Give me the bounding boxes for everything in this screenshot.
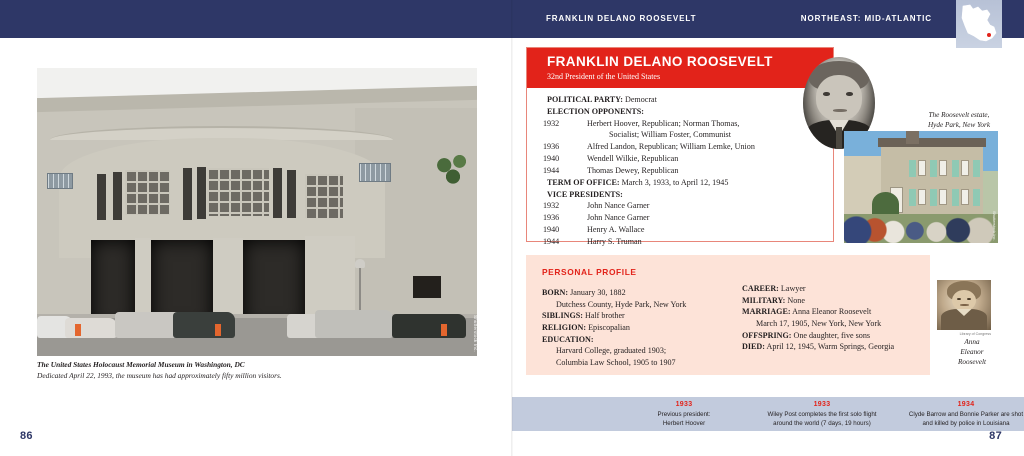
term-of-office-row: TERM OF OFFICE: March 3, 1933, to April …: [547, 177, 825, 189]
estate-window: [939, 189, 947, 205]
estate-shutter: [930, 160, 937, 177]
died-label: DIED:: [742, 342, 765, 351]
opponent-names: Wendell Wilkie, Republican: [587, 154, 678, 163]
eleanor-caption-line-2: Eleanor: [937, 347, 1007, 357]
estate-shutter: [930, 189, 937, 206]
vice-president-row: 1936John Nance Garner: [547, 212, 825, 224]
vice-president-row: 1932John Nance Garner: [547, 200, 825, 212]
opponent-row: 1936Alfred Landon, Republican; William L…: [547, 141, 825, 153]
portrait-mouth: [833, 109, 847, 112]
born-sub: Dutchess County, Hyde Park, New York: [542, 299, 742, 311]
born-row: BORN: January 30, 1882: [542, 287, 742, 299]
vp-name: Henry A. Wallace: [587, 225, 644, 234]
vice-president-row: 1944Harry S. Truman: [547, 236, 825, 248]
left-bottom-band: [0, 452, 512, 456]
portrait-eye: [823, 92, 829, 96]
estate-shrub: [872, 192, 900, 217]
timeline-text-line-2: around the world (7 days, 19 hours): [748, 419, 896, 428]
opponent-year: 1936: [565, 141, 587, 153]
religion-row: RELIGION: Episcopalian: [542, 322, 742, 334]
eleanor-eye: [957, 298, 961, 300]
window-slot: [197, 167, 206, 219]
marriage-row: MARRIAGE: Anna Eleanor Roosevelt: [742, 306, 928, 318]
political-party-value: Democrat: [625, 95, 657, 104]
caption-line-1: The United States Holocaust Memorial Mus…: [37, 360, 477, 371]
marriage-sub: March 17, 1905, New York, New York: [742, 318, 928, 330]
siblings-row: SIBLINGS: Half brother: [542, 310, 742, 322]
left-photo-caption: The United States Holocaust Memorial Mus…: [37, 360, 477, 381]
education-label: EDUCATION:: [542, 335, 594, 344]
eleanor-eye: [967, 298, 971, 300]
window-slot: [273, 168, 282, 218]
opponent-year: 1940: [565, 153, 587, 165]
career-row: CAREER: Lawyer: [742, 283, 928, 295]
estate-shutter: [973, 160, 980, 177]
eleanor-face: [952, 290, 976, 311]
fact-card-body: POLITICAL PARTY: Democrat ELECTION OPPON…: [547, 94, 825, 248]
estate-window: [918, 189, 926, 205]
personal-profile-left-column: BORN: January 30, 1882 Dutchess County, …: [542, 287, 742, 368]
window-slot: [97, 174, 106, 220]
opponent-names: Thomas Dewey, Republican: [587, 166, 678, 175]
estate-window: [961, 160, 969, 176]
education-row: EDUCATION:: [542, 334, 742, 346]
education-sub-2: Columbia Law School, 1905 to 1907: [542, 357, 742, 369]
anna-eleanor-roosevelt-portrait: [937, 280, 991, 330]
window-slot: [287, 170, 296, 218]
opponent-row: 1932Herbert Hoover, Republican; Norman T…: [547, 118, 825, 130]
opponent-row-cont: Socialist; William Foster, Communist: [547, 129, 825, 141]
lantern-window: [359, 163, 391, 182]
estate-shutter: [952, 189, 959, 206]
estate-shutter: [973, 189, 980, 206]
location-marker-icon: [987, 33, 991, 37]
left-page: Shutterstock Inc. The United States Holo…: [0, 0, 512, 456]
president-name: FRANKLIN DELANO ROOSEVELT: [547, 54, 773, 69]
lantern-window: [47, 173, 73, 189]
timeline-event: 1933 Wiley Post completes the first solo…: [748, 401, 896, 429]
timeline-text: Previous president: Herbert Hoover: [620, 410, 748, 429]
personal-profile-title: PERSONAL PROFILE: [542, 267, 637, 277]
right-bottom-band: [512, 452, 1024, 456]
traffic-cone: [441, 324, 447, 336]
opponent-row: 1944Thomas Dewey, Republican: [547, 165, 825, 177]
timeline-text-line-1: Previous president:: [620, 410, 748, 419]
opponent-names: Alfred Landon, Republican; William Lemke…: [587, 142, 755, 151]
opponent-names: Herbert Hoover, Republican; Norman Thoma…: [587, 119, 739, 128]
parked-car: [392, 314, 466, 338]
right-page-number: 87: [989, 430, 1002, 442]
parked-car: [65, 318, 117, 338]
military-row: MILITARY: None: [742, 295, 928, 307]
estate-window: [961, 189, 969, 205]
timeline-text-line-1: Clyde Barrow and Bonnie Parker are shot: [896, 410, 1024, 419]
timeline-event: 1933 Previous president: Herbert Hoover: [620, 401, 748, 429]
estate-shutter: [909, 160, 916, 177]
born-value: January 30, 1882: [570, 288, 626, 297]
timeline-text: Clyde Barrow and Bonnie Parker are shot …: [896, 410, 1024, 429]
vp-year: 1936: [565, 212, 587, 224]
traffic-cone: [75, 324, 81, 336]
book-spread: Shutterstock Inc. The United States Holo…: [0, 0, 1024, 456]
grid-window: [125, 170, 170, 215]
vp-name: Harry S. Truman: [587, 237, 642, 246]
timeline-text-line-2: Herbert Hoover: [620, 419, 748, 428]
eleanor-caption-line-1: Anna: [937, 337, 1007, 347]
vice-presidents-label: VICE PRESIDENTS:: [547, 189, 825, 201]
offspring-row: OFFSPRING: One daughter, five sons: [742, 330, 928, 342]
religion-value: Episcopalian: [588, 323, 630, 332]
timeline-year: 1934: [896, 401, 1024, 408]
timeline-event: 1934 Clyde Barrow and Bonnie Parker are …: [896, 401, 1024, 429]
religion-label: RELIGION:: [542, 323, 586, 332]
tree: [431, 150, 475, 188]
president-subtitle: 32nd President of the United States: [547, 72, 660, 81]
marriage-value: Anna Eleanor Roosevelt: [792, 307, 871, 316]
timeline-year: 1933: [748, 401, 896, 408]
portrait-face: [816, 75, 862, 121]
vp-name: John Nance Garner: [587, 201, 649, 210]
born-label: BORN:: [542, 288, 568, 297]
military-value: None: [787, 296, 805, 305]
military-label: MILITARY:: [742, 296, 785, 305]
parked-car: [173, 312, 235, 338]
siblings-value: Half brother: [585, 311, 625, 320]
vp-year: 1940: [565, 224, 587, 236]
career-label: CAREER:: [742, 284, 779, 293]
estate-visitors: [844, 214, 998, 243]
page-gutter: [511, 0, 513, 456]
estate-shutter: [952, 160, 959, 177]
personal-profile-right-column: CAREER: Lawyer MILITARY: None MARRIAGE: …: [742, 283, 928, 353]
estate-caption-line-1: The Roosevelt estate,: [900, 110, 1018, 120]
timeline-text-line-2: and killed by police in Louisiana: [896, 419, 1024, 428]
photo-credit: Shutterstock Inc.: [473, 315, 477, 352]
header-title: FRANKLIN DELANO ROOSEVELT: [546, 14, 696, 23]
vp-year: 1932: [565, 200, 587, 212]
portrait-tie: [836, 127, 842, 149]
died-row: DIED: April 12, 1945, Warm Springs, Geor…: [742, 341, 928, 353]
eleanor-mouth: [960, 304, 969, 306]
term-label: TERM OF OFFICE:: [547, 178, 620, 187]
new-york-state-outline-icon: [956, 0, 1002, 48]
header-region: NORTHEAST: MID-ATLANTIC: [801, 14, 932, 23]
estate-caption-line-2: Hyde Park, New York: [900, 120, 1018, 130]
opponent-year: 1944: [565, 165, 587, 177]
portrait-eye: [846, 92, 852, 96]
career-value: Lawyer: [781, 284, 806, 293]
political-party-label: POLITICAL PARTY:: [547, 95, 623, 104]
vice-president-row: 1940Henry A. Wallace: [547, 224, 825, 236]
traffic-cone: [215, 324, 221, 336]
grid-window: [305, 174, 343, 218]
estate-roof: [878, 138, 986, 147]
timeline-text: Wiley Post completes the first solo flig…: [748, 410, 896, 429]
education-sub-1: Harvard College, graduated 1903;: [542, 345, 742, 357]
died-value: April 12, 1945, Warm Springs, Georgia: [767, 342, 895, 351]
eleanor-photo-credit: Library of Congress: [937, 332, 991, 336]
siblings-label: SIBLINGS:: [542, 311, 583, 320]
vp-name: John Nance Garner: [587, 213, 649, 222]
left-header-band: [0, 0, 512, 38]
offspring-label: OFFSPRING:: [742, 331, 791, 340]
personal-profile-card: PERSONAL PROFILE BORN: January 30, 1882 …: [526, 255, 930, 375]
opponent-year: 1932: [565, 118, 587, 130]
marriage-label: MARRIAGE:: [742, 307, 791, 316]
opponent-row: 1940Wendell Wilkie, Republican: [547, 153, 825, 165]
estate-photo-credit: Shutterstock Inc.: [992, 211, 997, 241]
holocaust-memorial-museum-photo: Shutterstock Inc.: [37, 68, 477, 356]
timeline-year: 1933: [620, 401, 748, 408]
estate-chimney: [906, 131, 920, 144]
grid-window: [207, 168, 269, 216]
new-york-state-icon: [956, 0, 1002, 48]
timeline-text-line-1: Wiley Post completes the first solo flig…: [748, 410, 896, 419]
election-opponents-label: ELECTION OPPONENTS:: [547, 106, 825, 118]
window-slot: [113, 172, 122, 220]
estate-shutter: [909, 189, 916, 206]
parked-car: [315, 310, 393, 338]
offspring-value: One daughter, five sons: [794, 331, 871, 340]
political-party-row: POLITICAL PARTY: Democrat: [547, 94, 825, 106]
window-slot: [183, 168, 192, 220]
estate-window: [939, 160, 947, 176]
vp-year: 1944: [565, 236, 587, 248]
roosevelt-estate-photo: Shutterstock Inc.: [844, 131, 998, 243]
eleanor-photo-caption: Anna Eleanor Roosevelt: [937, 337, 1007, 368]
eleanor-caption-line-3: Roosevelt: [937, 357, 1007, 367]
timeline-bar: 1933 Previous president: Herbert Hoover …: [512, 397, 1024, 431]
wall-plaque: [413, 276, 441, 298]
term-value: March 3, 1933, to April 12, 1945: [622, 178, 729, 187]
caption-line-2: Dedicated April 22, 1993, the museum has…: [37, 371, 477, 382]
president-facts-card: FRANKLIN DELANO ROOSEVELT 32nd President…: [526, 47, 834, 242]
estate-window: [918, 160, 926, 176]
left-page-number: 86: [20, 430, 33, 442]
estate-photo-caption: The Roosevelt estate, Hyde Park, New Yor…: [900, 110, 1018, 130]
